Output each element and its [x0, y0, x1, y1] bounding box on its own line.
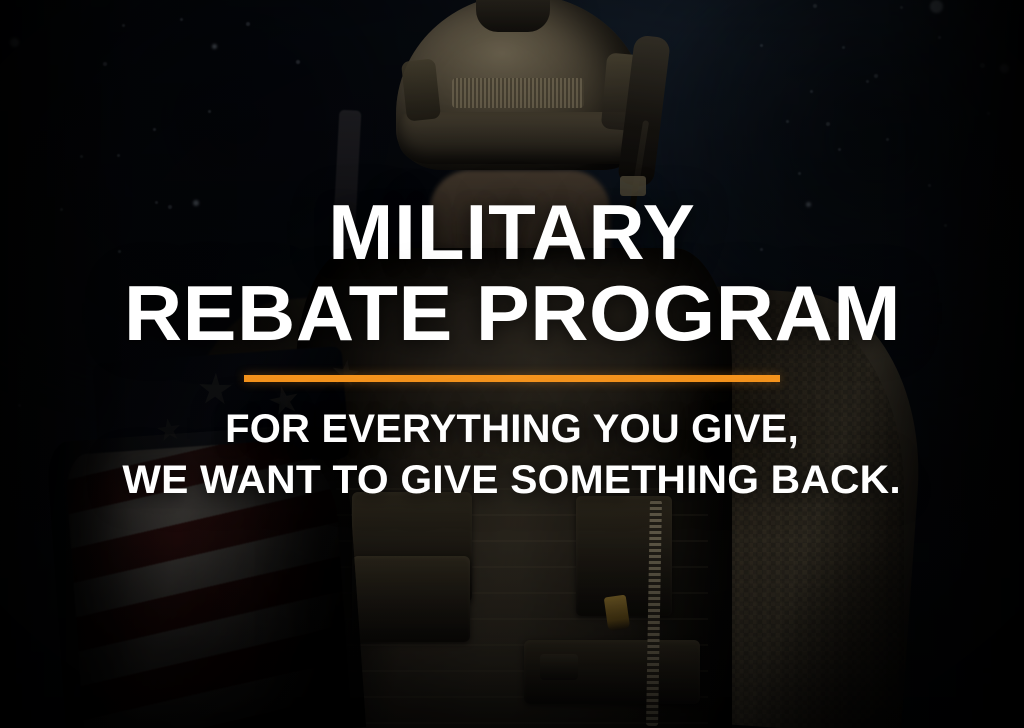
subtitle: FOR EVERYTHING YOU GIVE, WE WANT TO GIVE… [130, 404, 893, 506]
page-title: MILITARY REBATE PROGRAM [137, 0, 888, 349]
headline-line-2: REBATE PROGRAM [123, 277, 900, 350]
accent-divider [244, 375, 780, 382]
subtitle-line-2: WE WANT TO GIVE SOMETHING BACK. [123, 455, 902, 506]
banner-content: MILITARY REBATE PROGRAM FOR EVERYTHING Y… [0, 0, 1024, 728]
military-rebate-banner: MILITARY REBATE PROGRAM FOR EVERYTHING Y… [0, 0, 1024, 728]
subtitle-line-1: FOR EVERYTHING YOU GIVE, [130, 404, 893, 455]
headline-line-1: MILITARY [137, 196, 888, 269]
